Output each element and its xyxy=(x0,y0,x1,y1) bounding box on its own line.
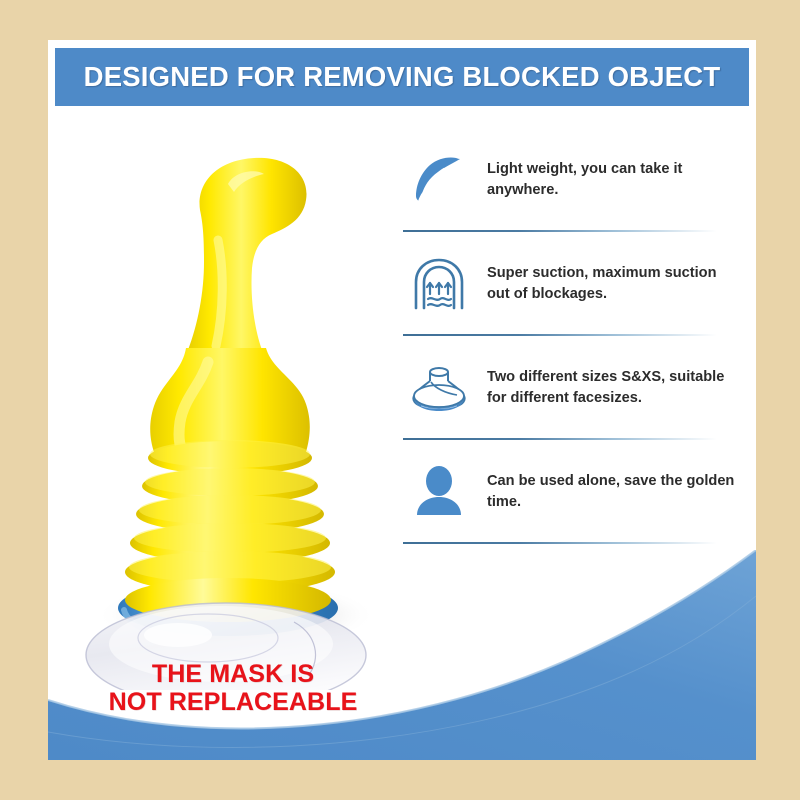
feature-item-two-sizes: Two different sizes S&XS, suitable for d… xyxy=(403,336,743,440)
warning-line-1: THE MASK IS xyxy=(58,660,408,688)
feature-item-used-alone: Can be used alone, save the golden time. xyxy=(403,440,743,544)
feature-label: Two different sizes S&XS, suitable for d… xyxy=(475,367,743,408)
person-icon xyxy=(403,456,475,528)
feature-label: Can be used alone, save the golden time. xyxy=(475,471,743,512)
white-content-card: DESIGNED FOR REMOVING BLOCKED OBJECT xyxy=(48,40,756,760)
mask-cup-icon xyxy=(403,352,475,424)
feature-label: Light weight, you can take it anywhere. xyxy=(475,159,743,200)
suction-arch-icon xyxy=(403,248,475,320)
warning-text: THE MASK IS NOT REPLACEABLE xyxy=(58,660,408,716)
header-banner: DESIGNED FOR REMOVING BLOCKED OBJECT xyxy=(55,48,749,106)
feature-item-light-weight: Light weight, you can take it anywhere. xyxy=(403,128,743,232)
page-title: DESIGNED FOR REMOVING BLOCKED OBJECT xyxy=(84,61,721,93)
feature-list: Light weight, you can take it anywhere. … xyxy=(403,128,743,544)
feature-divider xyxy=(403,542,733,544)
product-infographic-poster: DESIGNED FOR REMOVING BLOCKED OBJECT xyxy=(0,0,800,800)
feature-label: Super suction, maximum suction out of bl… xyxy=(475,263,743,304)
feather-icon xyxy=(403,144,475,216)
feature-item-super-suction: Super suction, maximum suction out of bl… xyxy=(403,232,743,336)
product-image xyxy=(58,110,403,690)
warning-line-2: NOT REPLACEABLE xyxy=(58,688,408,716)
